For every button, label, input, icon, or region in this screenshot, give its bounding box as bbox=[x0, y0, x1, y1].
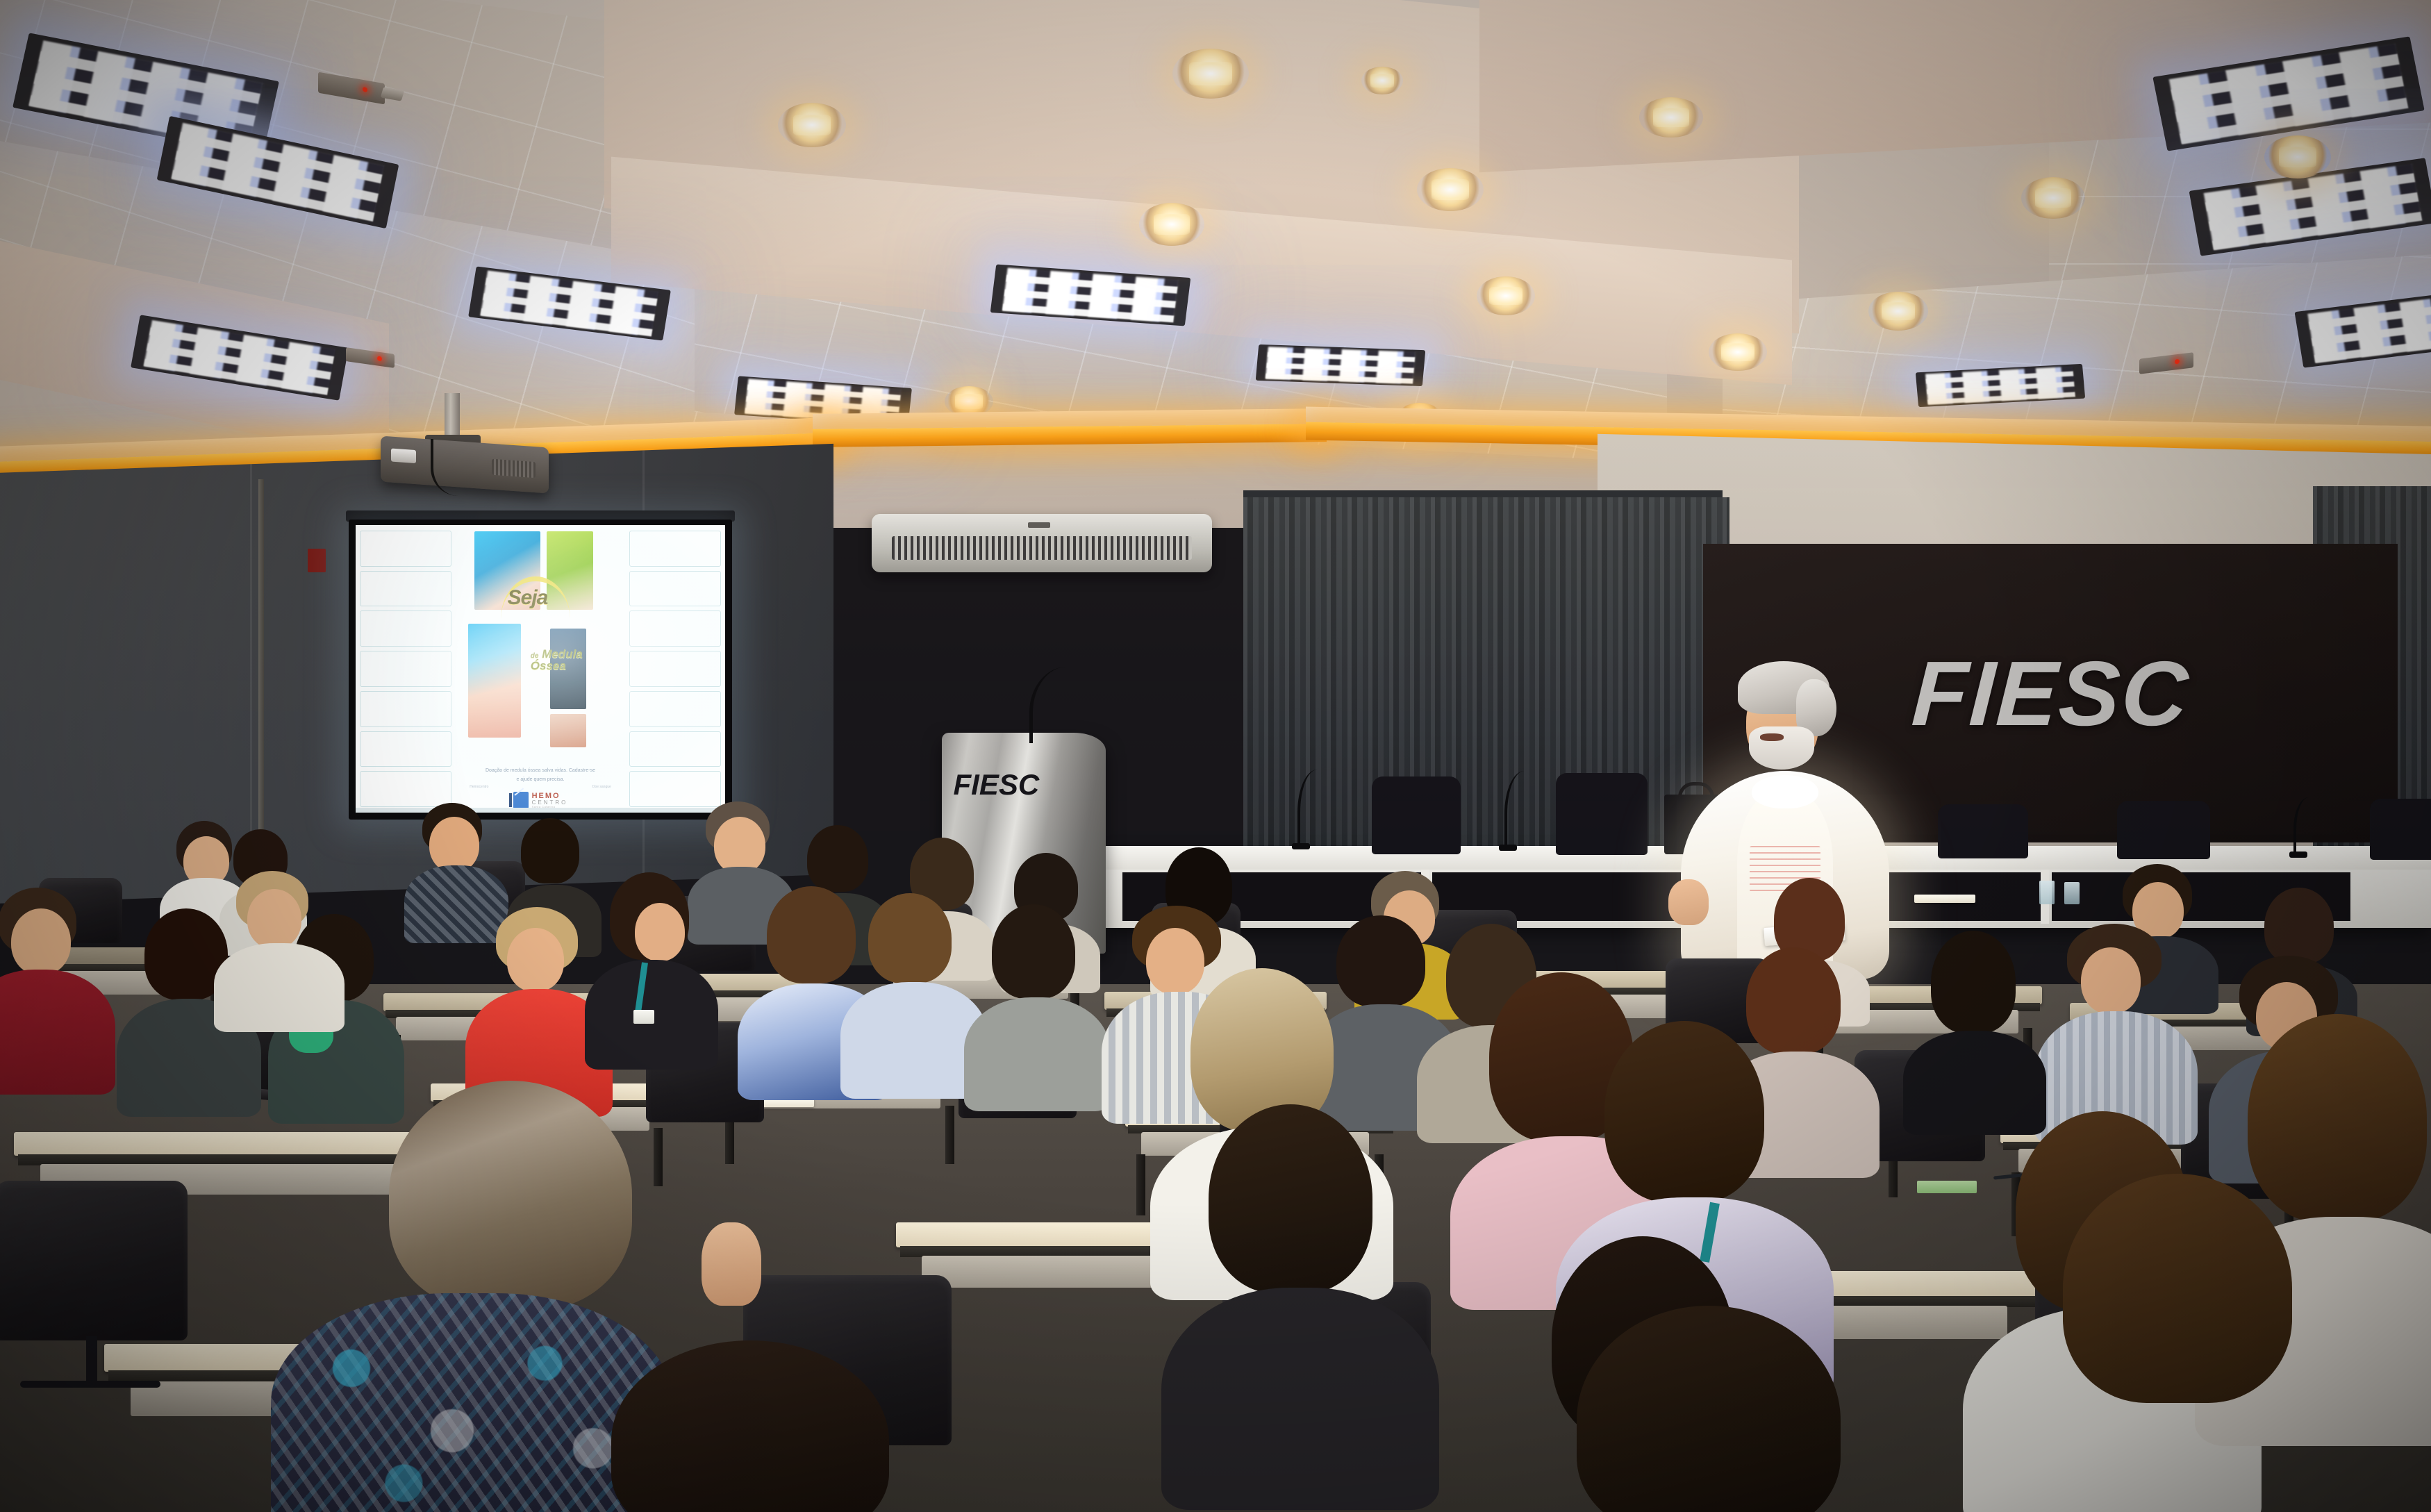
ceiling-downlight bbox=[1639, 97, 1703, 138]
audience-member bbox=[853, 893, 978, 1088]
name-badge bbox=[633, 1010, 654, 1024]
slide-sidebar-box[interactable] bbox=[360, 651, 451, 687]
hemocentro-logo-mark-icon bbox=[513, 792, 529, 808]
slide-sidebar-box[interactable] bbox=[360, 771, 451, 807]
audience-member-foreground bbox=[1556, 1306, 1861, 1512]
hair bbox=[2264, 888, 2334, 964]
hair bbox=[868, 893, 952, 983]
ceiling-troffer bbox=[1256, 344, 1426, 386]
ceiling-downlight bbox=[1868, 292, 1928, 331]
head bbox=[429, 817, 479, 872]
air-conditioner-unit bbox=[872, 514, 1212, 572]
paper-on-head-table bbox=[1914, 895, 1975, 903]
poster-photo-woman-portrait bbox=[468, 624, 521, 738]
slide-caption-line2: e ajude quem precisa. bbox=[470, 776, 611, 784]
poster-headline: Seja bbox=[508, 586, 548, 610]
audience-member bbox=[1914, 931, 2039, 1125]
hair bbox=[992, 904, 1075, 999]
head-table-microphone-base bbox=[1292, 843, 1310, 849]
head bbox=[507, 928, 564, 992]
slide-sidebar-box[interactable] bbox=[629, 610, 721, 647]
poster-photo-small bbox=[550, 714, 586, 747]
hemocentro-logo: HEMO CENTRO Santa Catarina bbox=[513, 792, 568, 808]
hair bbox=[1931, 931, 2016, 1033]
hand bbox=[702, 1222, 761, 1306]
audience-member bbox=[224, 871, 335, 1024]
audience-member-foreground bbox=[583, 1340, 917, 1512]
ceiling-downlight bbox=[2264, 135, 2331, 178]
hair bbox=[521, 818, 579, 883]
poster-subhead-line1: Medula bbox=[542, 647, 583, 661]
slide-main-column: Seja de Medula Óssea Doação de medula ós… bbox=[456, 525, 626, 813]
slide-fine-left: Hemocentro bbox=[470, 785, 488, 789]
poster-subhead-line2: Óssea bbox=[531, 659, 566, 672]
water-glass[interactable] bbox=[2039, 881, 2055, 904]
fiesc-backdrop-logo: FIESC bbox=[1909, 641, 2192, 746]
ceiling-downlight bbox=[1172, 49, 1249, 99]
head-table-microphone bbox=[1504, 771, 1541, 849]
hemocentro-logo-text: HEMO CENTRO Santa Catarina bbox=[532, 792, 568, 808]
projection-screen-surface: Seja de Medula Óssea Doação de medula ós… bbox=[356, 525, 725, 813]
audience-member bbox=[1181, 1104, 1417, 1493]
auditorium-scene: FIESC Se bbox=[0, 0, 2431, 1512]
hair bbox=[767, 886, 856, 983]
torso bbox=[214, 943, 345, 1032]
head bbox=[2081, 947, 2141, 1014]
podium-microphone bbox=[1029, 667, 1092, 743]
head-table-microphone bbox=[1297, 770, 1334, 847]
slide-sidebar-box[interactable] bbox=[629, 731, 721, 767]
head bbox=[11, 908, 71, 975]
head-table-chair[interactable] bbox=[2117, 801, 2210, 859]
head-table-chair[interactable] bbox=[2370, 799, 2431, 860]
hair bbox=[611, 1340, 889, 1512]
slide-sidebar-box[interactable] bbox=[629, 531, 721, 567]
presenter-head-group bbox=[1729, 661, 1855, 793]
slide-sidebar-box[interactable] bbox=[360, 731, 451, 767]
slide-sidebar-box[interactable] bbox=[360, 691, 451, 727]
slide-sidebar-box[interactable] bbox=[629, 571, 721, 607]
hair bbox=[807, 825, 868, 892]
projector-vent bbox=[492, 459, 536, 478]
ac-vent-grille bbox=[892, 536, 1191, 560]
audience-member bbox=[595, 872, 713, 1060]
hair bbox=[389, 1081, 632, 1310]
slide-caption-line1: Doação de medula óssea salva vidas. Cada… bbox=[470, 767, 611, 775]
podium-logo: FIESC bbox=[954, 768, 1040, 801]
ceiling-downlight bbox=[1709, 333, 1767, 371]
poster-subhead: de Medula Óssea bbox=[531, 648, 583, 672]
audience-member bbox=[0, 888, 107, 1082]
slide-poster-artwork: Seja de Medula Óssea bbox=[458, 529, 623, 766]
slide-sidebar-right bbox=[625, 525, 725, 813]
ceiling-downlight bbox=[778, 103, 846, 147]
projector-lens-icon bbox=[391, 449, 416, 463]
ceiling-downlight bbox=[2021, 177, 2085, 219]
hair bbox=[1577, 1306, 1841, 1512]
head bbox=[247, 889, 301, 949]
presenter-mouth bbox=[1760, 733, 1784, 741]
chair[interactable] bbox=[0, 1181, 188, 1403]
head-table-microphone-base bbox=[1499, 845, 1517, 851]
ceiling-downlight bbox=[1139, 203, 1204, 246]
ceiling-downlight bbox=[1417, 168, 1484, 211]
head bbox=[714, 817, 765, 874]
ceiling-downlight bbox=[1361, 67, 1403, 94]
door-frame bbox=[258, 479, 264, 882]
hemocentro-logo-name: HEMO bbox=[532, 792, 568, 800]
head-table-chair[interactable] bbox=[1938, 804, 2028, 858]
hair bbox=[1604, 1021, 1764, 1203]
slide-sidebar-box[interactable] bbox=[629, 691, 721, 727]
hair bbox=[1209, 1104, 1372, 1293]
exit-sign bbox=[308, 549, 326, 572]
presenter-hand bbox=[1668, 879, 1709, 925]
torso bbox=[0, 970, 115, 1095]
audience-member-raised-hand bbox=[695, 1222, 785, 1347]
slide-sidebar-box[interactable] bbox=[360, 571, 451, 607]
presenter-beard bbox=[1749, 726, 1814, 770]
ac-display bbox=[1028, 522, 1050, 528]
slide-sidebar-box[interactable] bbox=[360, 610, 451, 647]
hair bbox=[2063, 1174, 2292, 1403]
slide-sidebar-box[interactable] bbox=[360, 531, 451, 567]
audience-member bbox=[977, 904, 1102, 1099]
audience-member-foreground bbox=[2042, 1174, 2320, 1512]
head bbox=[635, 903, 685, 961]
head-table-chair[interactable] bbox=[1556, 773, 1648, 855]
head-table-chair[interactable] bbox=[1372, 776, 1461, 854]
slide-content: Seja de Medula Óssea Doação de medula ós… bbox=[356, 525, 725, 813]
slide-sidebar-box[interactable] bbox=[629, 651, 721, 687]
water-glass[interactable] bbox=[2064, 882, 2080, 904]
slide-sidebar-left bbox=[356, 525, 456, 813]
head-table-microphone-base bbox=[2289, 851, 2307, 858]
ceiling-downlight bbox=[1477, 276, 1535, 315]
torso bbox=[964, 997, 1110, 1111]
slide-fine-right: Doe sangue bbox=[592, 785, 611, 789]
audience-member bbox=[2049, 924, 2188, 1139]
head-table-microphone bbox=[2293, 797, 2321, 856]
torso bbox=[1161, 1288, 1439, 1510]
slide-fine-print: Hemocentro Doe sangue bbox=[470, 785, 611, 789]
projector-mount-pole bbox=[445, 393, 460, 439]
